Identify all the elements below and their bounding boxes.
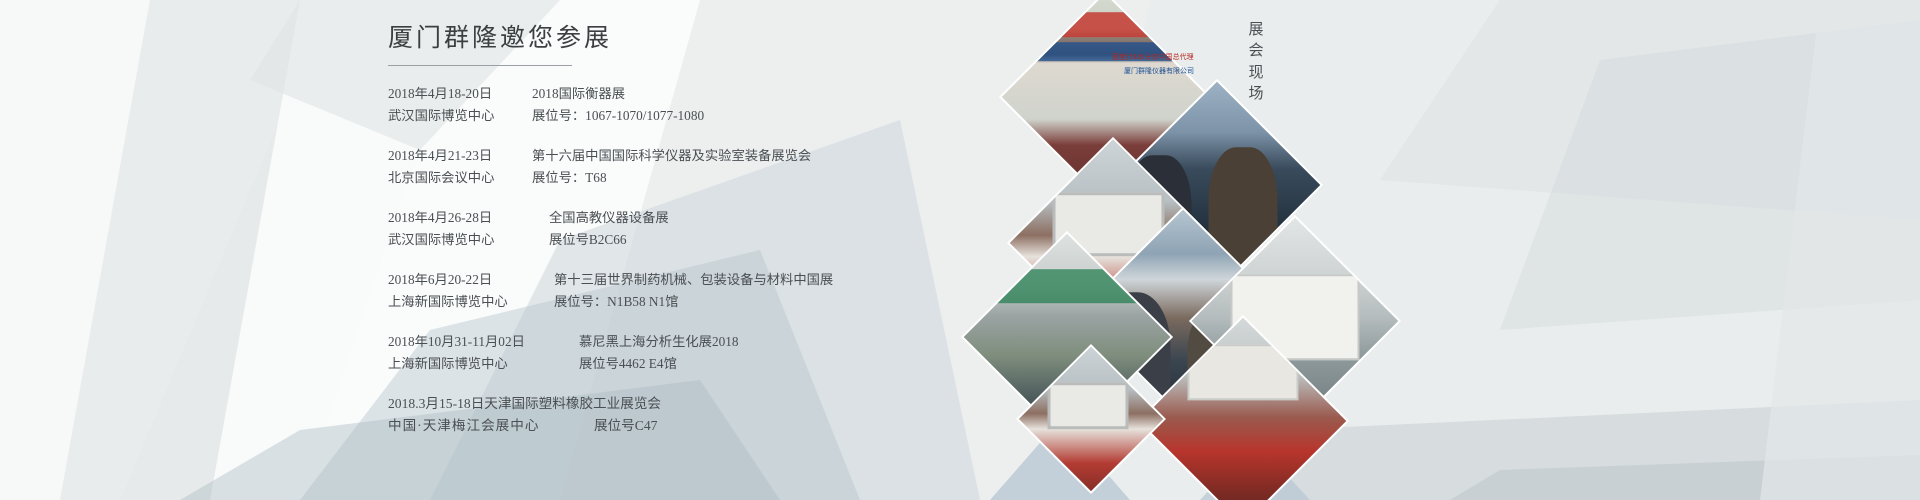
page-title: 厦门群隆邀您参展: [388, 18, 948, 61]
caption-char: 会: [1244, 41, 1270, 62]
caption-char: 现: [1244, 63, 1270, 84]
event-date: 2018年4月21-23日: [388, 145, 516, 167]
event-name: 2018国际衡器展: [516, 83, 625, 105]
invitation-panel: 厦门群隆邀您参展 2018年4月18-20日2018国际衡器展 武汉国际博览中心…: [388, 18, 948, 456]
event-booth: 展位号C47: [578, 415, 657, 437]
event-date: 2018年6月20-22日: [388, 269, 538, 291]
collage-caption: 展 会 现 场: [1244, 20, 1270, 105]
event-venue: 上海新国际博览中心: [388, 291, 538, 313]
event-date: 2018.3月15-18日天津国际塑料橡胶工业展览会: [388, 396, 661, 411]
event-name: 第十三届世界制药机械、包装设备与材料中国展: [538, 269, 833, 291]
photo-collage: [1020, 0, 1440, 500]
event-date: 2018年10月31-11月02日: [388, 331, 563, 353]
event-item: 2018年10月31-11月02日慕尼黑上海分析生化展2018 上海新国际博览中…: [388, 331, 948, 374]
event-booth: 展位号：N1B58 N1馆: [538, 291, 678, 313]
event-venue: 上海新国际博览中心: [388, 353, 563, 375]
photo-badge-line1: 密度计&水分仪中国总代理: [1112, 52, 1194, 62]
event-venue: 中国·天津梅江会展中心: [388, 415, 578, 437]
caption-char: 展: [1244, 20, 1270, 41]
event-name: 慕尼黑上海分析生化展2018: [563, 331, 739, 353]
event-item: 2018年6月20-22日第十三届世界制药机械、包装设备与材料中国展 上海新国际…: [388, 269, 948, 312]
event-date: 2018年4月18-20日: [388, 83, 516, 105]
event-booth: 展位号：T68: [516, 167, 607, 189]
event-item: 2018.3月15-18日天津国际塑料橡胶工业展览会 中国·天津梅江会展中心展位…: [388, 393, 948, 437]
event-name: 全国高教仪器设备展: [533, 207, 669, 229]
event-booth: 展位号：1067-1070/1077-1080: [516, 105, 704, 127]
event-name: 第十六届中国国际科学仪器及实验室装备展览会: [516, 145, 811, 167]
event-venue: 武汉国际博览中心: [388, 105, 516, 127]
caption-char: 场: [1244, 84, 1270, 105]
event-venue: 武汉国际博览中心: [388, 229, 533, 251]
event-item: 2018年4月21-23日第十六届中国国际科学仪器及实验室装备展览会 北京国际会…: [388, 145, 948, 188]
event-date: 2018年4月26-28日: [388, 207, 533, 229]
event-venue: 北京国际会议中心: [388, 167, 516, 189]
event-item: 2018年4月26-28日全国高教仪器设备展 武汉国际博览中心展位号B2C66: [388, 207, 948, 250]
event-item: 2018年4月18-20日2018国际衡器展 武汉国际博览中心展位号：1067-…: [388, 83, 948, 126]
title-divider: [388, 65, 572, 66]
event-booth: 展位号4462 E4馆: [563, 353, 677, 375]
photo-badge-line2: 厦门群隆仪器有限公司: [1124, 66, 1194, 76]
event-booth: 展位号B2C66: [533, 229, 627, 251]
background-geometry: [0, 0, 1920, 500]
